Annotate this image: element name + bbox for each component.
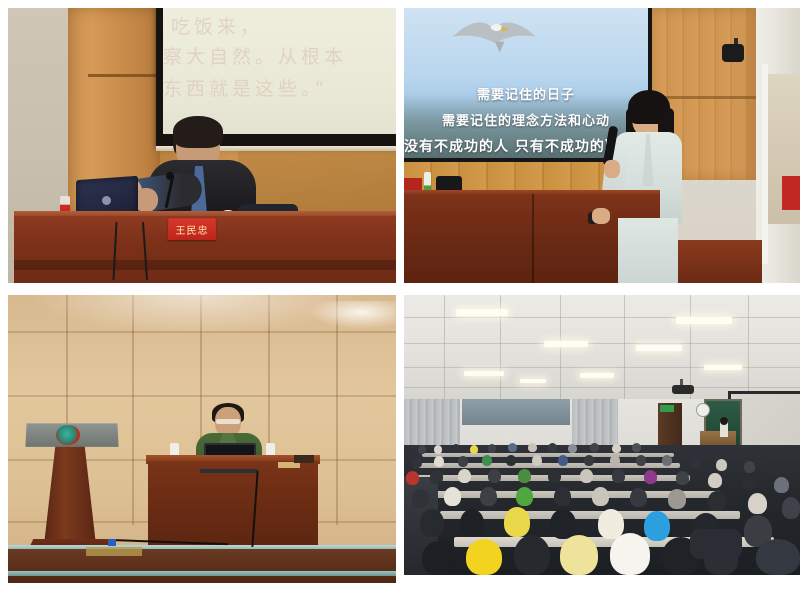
student: [518, 469, 531, 483]
student: [506, 455, 516, 466]
student: [516, 487, 533, 506]
student: [460, 509, 484, 537]
desk-seam: [532, 194, 534, 283]
student: [466, 539, 502, 575]
student: [470, 445, 478, 454]
student: [480, 487, 497, 506]
student: [504, 507, 530, 537]
student: [406, 471, 419, 485]
student: [458, 469, 471, 483]
fluorescent-light: [464, 371, 504, 376]
student: [412, 457, 422, 468]
laptop-base: [200, 469, 258, 473]
stage-edge-lower: [8, 571, 396, 576]
photo-top-left[interactable]: 吃饭来， 察大自然。从根本 东西就是这些。” 王民忠: [8, 8, 396, 283]
student: [528, 443, 537, 452]
front-lecturer-head: [720, 417, 728, 425]
podium-emblem-icon: [56, 425, 80, 445]
student: [482, 455, 492, 466]
ceiling-grid-line: [404, 317, 800, 318]
laptop-logo: [102, 196, 111, 205]
backpack: [690, 529, 742, 559]
student: [644, 470, 657, 484]
slide-line-3: 东西就是这些。”: [163, 74, 396, 104]
student: [554, 487, 571, 506]
student: [756, 539, 800, 575]
student: [708, 491, 726, 511]
window: [462, 399, 570, 425]
photo-bottom-right[interactable]: [404, 295, 800, 575]
eyeglasses-icon: [216, 419, 240, 424]
suspended-ceiling: [404, 295, 800, 403]
wall-tile-seam: [8, 395, 396, 397]
nameplate-text: 王民忠: [175, 222, 208, 237]
student: [636, 455, 646, 466]
student: [610, 533, 650, 575]
fluorescent-light: [636, 345, 682, 351]
slide-line-1: 需要记住的日子: [404, 84, 648, 103]
ceiling-grid-line: [404, 387, 800, 388]
student: [532, 455, 542, 466]
desk-shadow: [14, 260, 396, 270]
speaker-nameplate: 王民忠: [168, 218, 217, 240]
student: [774, 477, 789, 493]
student: [610, 455, 620, 466]
slide-line-2: 察大自然。从根本: [163, 42, 396, 72]
student: [770, 463, 782, 476]
student: [612, 469, 625, 483]
fluorescent-light: [580, 373, 614, 378]
slide-line-1: 吃饭来，: [171, 12, 396, 42]
student: [644, 511, 670, 541]
wall-speaker: [722, 44, 744, 62]
window-curtain: [404, 399, 460, 451]
student: [676, 471, 689, 485]
student: [418, 445, 426, 454]
student: [632, 443, 641, 452]
student: [488, 444, 496, 453]
desk-microphone-head: [166, 172, 174, 180]
floor-mat: [86, 547, 142, 556]
stage-floor: [8, 549, 396, 583]
fluorescent-light: [704, 365, 742, 370]
student: [560, 535, 598, 575]
photo-bottom-left[interactable]: [8, 295, 396, 583]
student: [488, 469, 501, 483]
red-object-behind-door: [782, 176, 800, 210]
fluorescent-light: [676, 317, 732, 324]
student: [708, 473, 722, 488]
student: [548, 469, 561, 483]
student: [548, 443, 557, 452]
student: [748, 493, 767, 514]
collage-canvas: 吃饭来， 察大自然。从根本 东西就是这些。” 王民忠: [0, 0, 800, 590]
speaker-hair: [173, 116, 223, 148]
student: [514, 535, 550, 575]
student: [452, 444, 460, 453]
student: [430, 470, 443, 484]
presenter-skirt: [618, 218, 678, 283]
wall-clock-icon: [696, 403, 710, 417]
light-reflection: [308, 301, 396, 329]
student: [558, 455, 568, 466]
student: [422, 541, 456, 575]
student: [590, 443, 599, 452]
door-frame: [762, 64, 768, 264]
ceiling-projector: [672, 385, 694, 394]
student: [668, 489, 686, 509]
ceiling-grid-line: [404, 343, 800, 344]
fluorescent-light: [456, 309, 508, 316]
student: [592, 487, 609, 506]
student: [662, 455, 672, 466]
student: [716, 459, 727, 471]
student: [568, 444, 577, 453]
student: [742, 475, 756, 490]
student: [458, 456, 468, 467]
power-plug: [108, 539, 116, 546]
student: [444, 487, 461, 506]
student: [412, 489, 429, 508]
student: [434, 456, 444, 467]
eagle-icon: [448, 14, 542, 66]
student: [744, 461, 755, 473]
exit-sign-icon: [660, 405, 674, 412]
student: [630, 488, 647, 507]
student: [584, 455, 594, 466]
fluorescent-light: [520, 379, 546, 383]
presenter-hand-mic: [604, 160, 620, 178]
student: [550, 509, 576, 539]
student: [612, 444, 621, 453]
photo-top-right[interactable]: 需要记住的日子 需要记住的理念方法和心动 没有不成功的人 只有不成功的职业生涯设…: [404, 8, 800, 283]
student: [420, 509, 444, 537]
student: [782, 497, 800, 519]
student: [434, 445, 442, 454]
desk-box: [294, 455, 314, 463]
student: [508, 443, 517, 452]
presenter-hand-clicker: [592, 208, 610, 224]
fluorescent-light: [544, 341, 588, 347]
student: [690, 457, 700, 468]
student: [580, 469, 593, 483]
